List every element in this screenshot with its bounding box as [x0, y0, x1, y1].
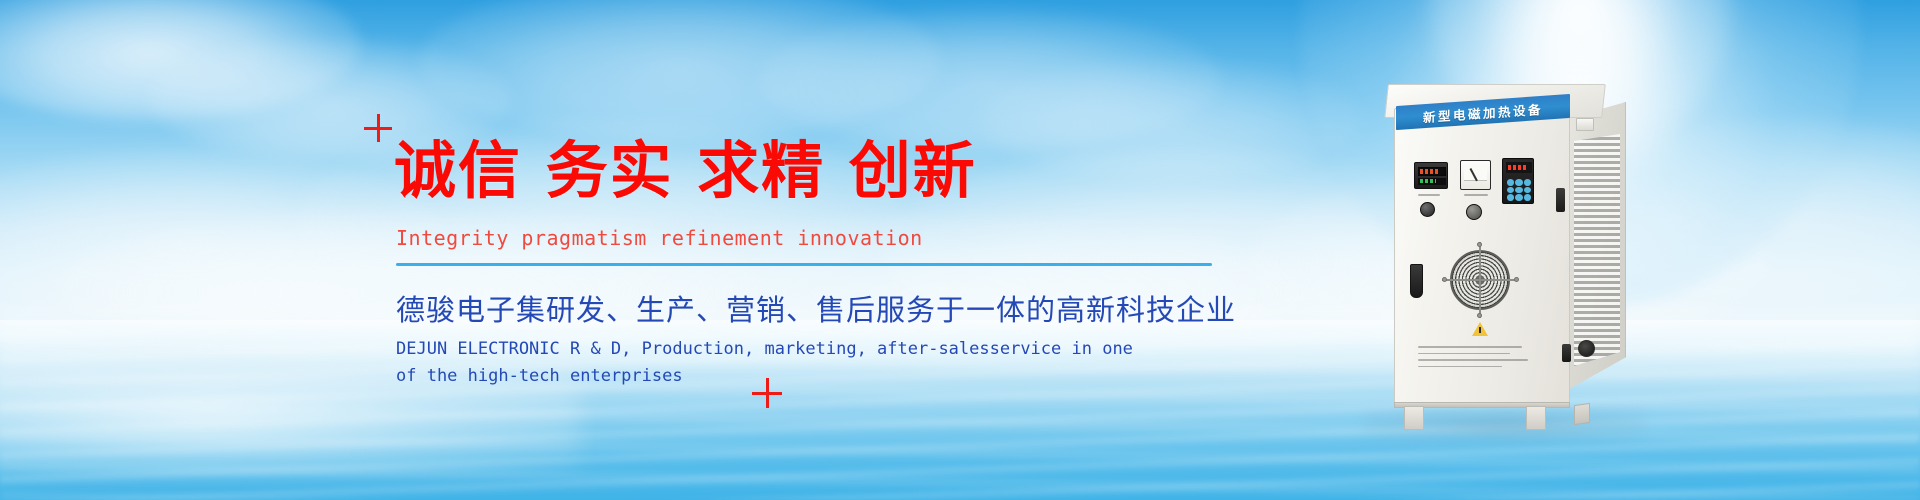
product-image-heating-machine: 新型电磁加热设备	[1378, 78, 1628, 438]
subtitle-chinese: 德骏电子集研发、生产、营销、售后服务于一体的高新科技企业	[396, 287, 1236, 329]
fan-cross-arm	[1479, 242, 1481, 318]
selector-knob	[1420, 202, 1435, 217]
machine-foot	[1404, 406, 1424, 430]
fan-bolt	[1514, 277, 1519, 282]
fan-bolt	[1477, 313, 1482, 318]
machine-spec-text	[1418, 346, 1538, 372]
promo-banner: 诚信 务实 求精 创新 Integrity pragmatism refinem…	[0, 0, 1920, 500]
machine-power-port	[1562, 344, 1571, 362]
headline-chinese: 诚信 务实 求精 创新	[394, 138, 977, 205]
analog-ammeter-gauge	[1460, 160, 1491, 190]
divider-rule	[396, 263, 1212, 266]
subtitle-english: DEJUN ELECTRONIC R & D, Production, mark…	[396, 336, 1133, 390]
warning-triangle-icon	[1472, 322, 1488, 336]
machine-side-handle	[1556, 188, 1565, 212]
machine-left-socket	[1410, 264, 1423, 298]
machine-foot	[1526, 406, 1546, 430]
instrument-label-mark	[1464, 194, 1488, 196]
machine-side-louvers	[1574, 134, 1620, 366]
fan-bolt	[1477, 242, 1482, 247]
machine-foot	[1574, 403, 1590, 425]
fan-bolt	[1442, 277, 1447, 282]
digital-temperature-controller	[1414, 162, 1448, 189]
headline-english: Integrity pragmatism refinement innovati…	[396, 226, 923, 250]
subtitle-english-line-2: of the high-tech enterprises	[396, 363, 1133, 390]
control-keypad-module	[1502, 158, 1534, 204]
machine-connector-socket	[1578, 340, 1595, 357]
machine-top-vent	[1576, 118, 1594, 131]
adjust-knob	[1466, 204, 1482, 220]
instrument-label-mark	[1418, 194, 1440, 196]
subtitle-english-line-1: DEJUN ELECTRONIC R & D, Production, mark…	[396, 336, 1133, 363]
